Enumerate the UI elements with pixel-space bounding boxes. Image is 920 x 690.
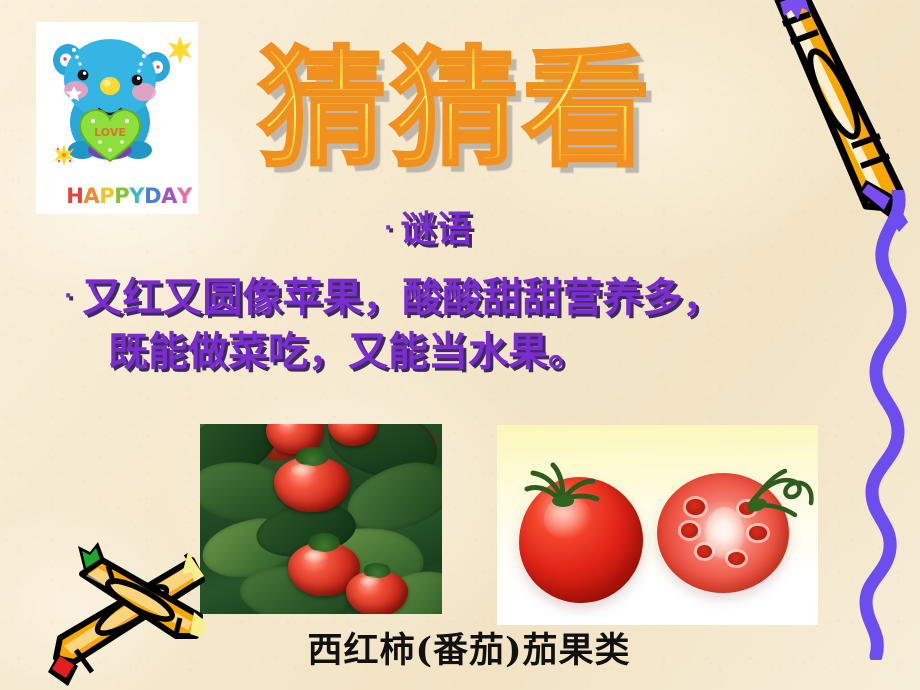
crayons-bottom-left xyxy=(16,538,212,690)
happyday-letter: P xyxy=(99,186,114,207)
photo-tomato-plant xyxy=(200,424,442,614)
happyday-letter: D xyxy=(144,186,161,207)
heart-love-label: LOVE xyxy=(94,126,126,139)
photo-tomato-whole-and-half xyxy=(497,425,818,625)
happyday-letter: A xyxy=(83,186,99,207)
tomato-half-stem xyxy=(745,463,818,525)
squiggle-purple-line xyxy=(826,190,920,660)
tomato-calyx xyxy=(515,459,605,509)
happy-day-label: HAPPYDAY xyxy=(36,186,198,207)
riddle-label: ·谜语 xyxy=(384,209,472,250)
riddle-line-2: 既能做菜吃，又能当水果。 xyxy=(64,326,864,380)
slide-title: 猜猜看 猜猜看 xyxy=(236,30,676,190)
happyday-letter: Y xyxy=(129,186,144,207)
slide-canvas: LOVE HAPPYDAY 猜猜看 猜猜看 ·谜语 xyxy=(0,0,920,690)
star-icon xyxy=(168,36,192,64)
happyday-letter: A xyxy=(161,186,177,207)
bullet-marker: · xyxy=(384,216,392,241)
riddle-line-1: 又红又圆像苹果，酸酸甜甜营养多， xyxy=(82,275,722,321)
happyday-letter: Y xyxy=(177,186,192,207)
slide-title-text: 猜猜看 xyxy=(236,30,676,190)
riddle-body: ·又红又圆像苹果，酸酸甜甜营养多， 既能做菜吃，又能当水果。 xyxy=(64,272,864,379)
riddle-label-text: 谜语 xyxy=(400,209,472,250)
teddy-bear-icon: LOVE xyxy=(40,24,194,174)
happyday-letter: P xyxy=(114,186,129,207)
happy-day-bear-card: LOVE HAPPYDAY xyxy=(36,22,198,214)
happyday-letter: H xyxy=(66,186,83,207)
bullet-marker: · xyxy=(64,284,72,309)
